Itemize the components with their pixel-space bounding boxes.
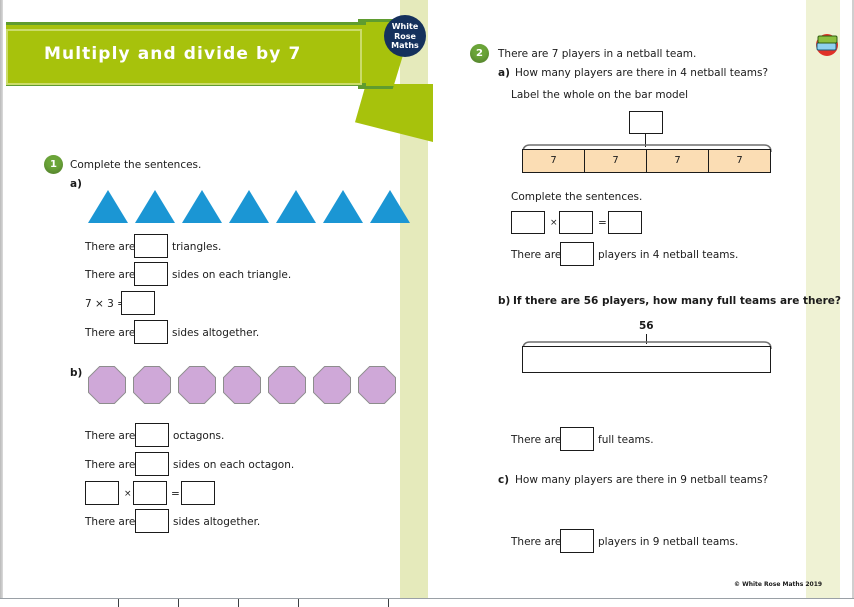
q2a-bar-model: 7 7 7 7 xyxy=(522,149,771,173)
q1b-line2-post: sides on each octagon. xyxy=(173,459,294,471)
question-2-prompt: There are 7 players in a netball team. xyxy=(498,48,696,60)
q1a-answer-box-3[interactable] xyxy=(121,291,155,315)
q2a-whole-answer-box[interactable] xyxy=(629,111,663,134)
q1a-line2-pre: There are xyxy=(85,269,135,281)
q2c-sentence-pre: There are xyxy=(511,536,561,548)
q1b-equals-sign: = xyxy=(171,488,180,500)
q2b-sentence-post: full teams. xyxy=(598,434,654,446)
q1a-line1-pre: There are xyxy=(85,241,135,253)
q2a-multiply-sign: × xyxy=(550,218,558,228)
logo-line-1: White xyxy=(384,22,426,32)
q2a-equation-box-3[interactable] xyxy=(608,211,642,234)
triangle-shape xyxy=(135,190,175,223)
q1b-multiply-sign: × xyxy=(124,489,132,499)
question-2a-text: How many players are there in 4 netball … xyxy=(515,67,768,79)
triangle-shape xyxy=(182,190,222,223)
q1b-line4-pre: There are xyxy=(85,516,135,528)
triangle-shape xyxy=(88,190,128,223)
q2a-sentence-answer-box[interactable] xyxy=(560,242,594,266)
q1b-line4-post: sides altogether. xyxy=(173,516,260,528)
logo-line-2: Rose xyxy=(384,32,426,42)
bar-cell: 7 xyxy=(647,150,709,172)
triangle-shape xyxy=(323,190,363,223)
q1a-answer-box-2[interactable] xyxy=(134,262,168,286)
q1a-line4-post: sides altogether. xyxy=(172,327,259,339)
question-1-prompt: Complete the sentences. xyxy=(70,159,201,171)
triangle-shape xyxy=(370,190,410,223)
triangle-shape xyxy=(229,190,269,223)
copyright-notice: © White Rose Maths 2019 xyxy=(734,581,822,588)
q2b-sentence-pre: There are xyxy=(511,434,561,446)
q1b-answer-box-2[interactable] xyxy=(135,452,169,476)
q2a-equals-sign: = xyxy=(598,217,607,229)
bar-cell: 7 xyxy=(523,150,585,172)
worksheet-page: Multiply and divide by 7 White Rose Math… xyxy=(0,0,854,607)
q2a-equation-box-2[interactable] xyxy=(559,211,593,234)
white-rose-maths-logo: White Rose Maths xyxy=(384,15,426,57)
bar-cell: 7 xyxy=(709,150,770,172)
q1b-line1-post: octagons. xyxy=(173,430,224,442)
q2a-sub-prompt: Complete the sentences. xyxy=(511,191,642,203)
question-2b-text: If there are 56 players, how many full t… xyxy=(513,295,841,307)
q2a-sentence-pre: There are xyxy=(511,249,561,261)
q1b-answer-box-4[interactable] xyxy=(135,509,169,533)
q1a-line1-post: triangles. xyxy=(172,241,221,253)
q2c-sentence-post: players in 9 netball teams. xyxy=(598,536,738,548)
q1a-answer-box-1[interactable] xyxy=(134,234,168,258)
question-2b-label: b) xyxy=(498,295,510,307)
question-2c-text: How many players are there in 9 netball … xyxy=(515,474,768,486)
logo-line-3: Maths xyxy=(384,41,426,51)
q1a-equation-text: 7 × 3 = xyxy=(85,298,126,310)
q1a-line2-post: sides on each triangle. xyxy=(172,269,291,281)
question-2c-label: c) xyxy=(498,474,509,486)
books-icon xyxy=(812,28,842,60)
question-2a-label: a) xyxy=(498,67,510,79)
question-1-number: 1 xyxy=(44,155,63,174)
q2a-sentence-post: players in 4 netball teams. xyxy=(598,249,738,261)
q1a-answer-box-4[interactable] xyxy=(134,320,168,344)
header-banner: Multiply and divide by 7 xyxy=(6,22,428,126)
question-1a-label: a) xyxy=(70,178,82,190)
banner-flag-shape xyxy=(355,84,433,142)
q2b-answer-box[interactable] xyxy=(560,427,594,451)
triangle-shape xyxy=(276,190,316,223)
q1b-equation-box-1[interactable] xyxy=(85,481,119,505)
q1b-line1-pre: There are xyxy=(85,430,135,442)
q1b-line2-pre: There are xyxy=(85,459,135,471)
q2b-bar-model xyxy=(522,346,771,373)
q1b-answer-box-1[interactable] xyxy=(135,423,169,447)
q1b-equation-box-2[interactable] xyxy=(133,481,167,505)
q1a-line4-pre: There are xyxy=(85,327,135,339)
page-left-edge xyxy=(0,0,3,600)
q2a-equation-box-1[interactable] xyxy=(511,211,545,234)
bar-cell: 7 xyxy=(585,150,647,172)
question-1b-label: b) xyxy=(70,367,82,379)
q2c-answer-box[interactable] xyxy=(560,529,594,553)
bottom-edge-strip xyxy=(0,598,854,607)
page-title: Multiply and divide by 7 xyxy=(44,22,364,86)
q1b-equation-box-3[interactable] xyxy=(181,481,215,505)
q2b-whole-label: 56 xyxy=(639,320,654,332)
question-2a-instruction: Label the whole on the bar model xyxy=(511,89,688,101)
question-2-number: 2 xyxy=(470,44,489,63)
